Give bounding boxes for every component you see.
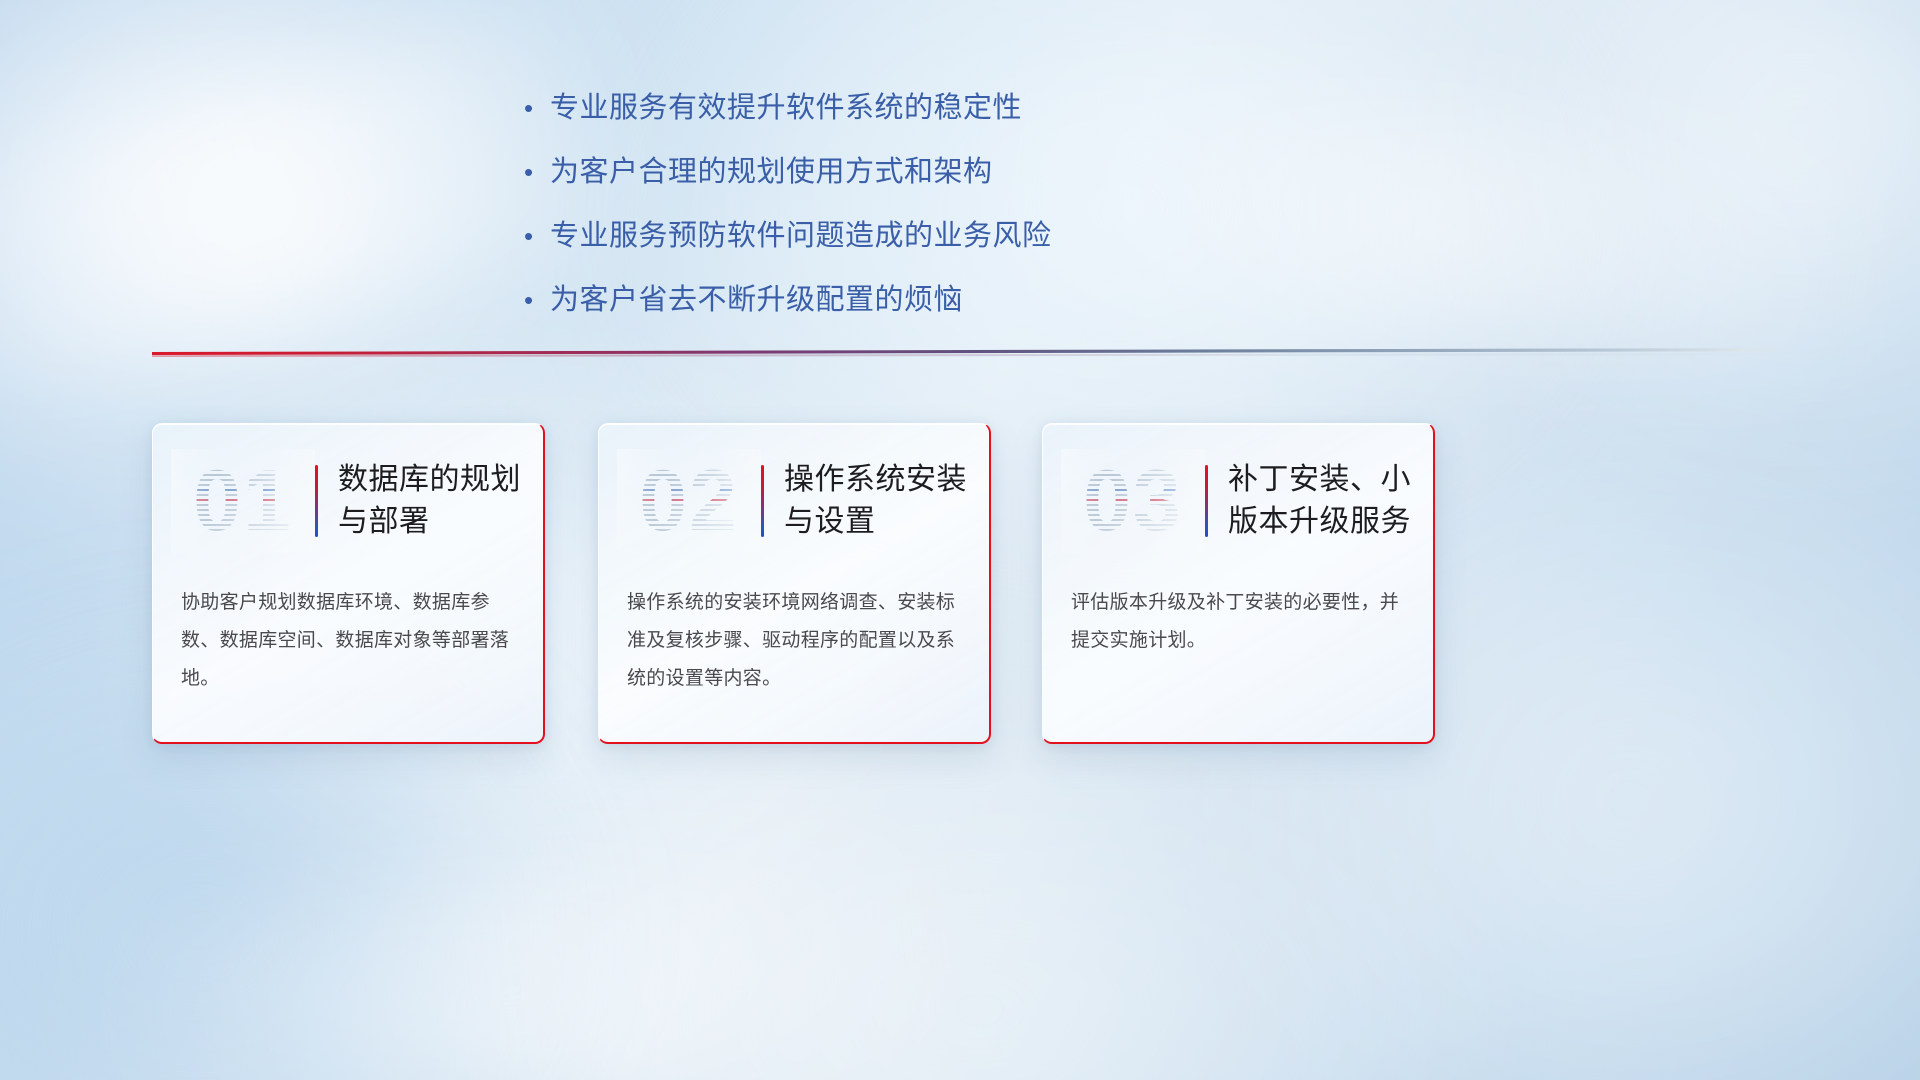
card-title: 补丁安装、小版本升级服务 xyxy=(1228,459,1418,543)
card-number-watermark: 01 01 01 xyxy=(177,449,309,553)
card-number-blue-scanlines: 02 xyxy=(623,449,755,553)
card-number-blue-scanlines: 01 xyxy=(177,449,309,553)
card-header: 02 02 02 操作系统安装与设置 xyxy=(599,442,989,560)
card-accent-bar xyxy=(315,465,318,537)
card-title: 操作系统安装与设置 xyxy=(784,459,974,543)
card-description: 协助客户规划数据库环境、数据库参数、数据库空间、数据库对象等部署落地。 xyxy=(181,584,515,698)
card-header: 03 03 03 补丁安装、小版本升级服务 xyxy=(1043,442,1433,560)
card-accent-bar xyxy=(761,465,764,537)
service-card-01[interactable]: 01 01 01 数据库的规划与部署 协助客户规划数据库环境、数据库参数、数据库… xyxy=(152,423,545,744)
card-header: 01 01 01 数据库的规划与部署 xyxy=(153,442,543,560)
card-accent-bar xyxy=(1205,465,1208,537)
card-number-watermark: 03 03 03 xyxy=(1067,449,1199,553)
card-title: 数据库的规划与部署 xyxy=(338,459,528,543)
service-card-03[interactable]: 03 03 03 补丁安装、小版本升级服务 评估版本升级及补丁安装的必要性，并提… xyxy=(1042,423,1435,744)
service-card-02[interactable]: 02 02 02 操作系统安装与设置 操作系统的安装环境网络调查、安装标准及复核… xyxy=(598,423,991,744)
card-description: 操作系统的安装环境网络调查、安装标准及复核步骤、驱动程序的配置以及系统的设置等内… xyxy=(627,584,961,698)
card-description: 评估版本升级及补丁安装的必要性，并提交实施计划。 xyxy=(1071,584,1405,660)
service-card-group: 01 01 01 数据库的规划与部署 协助客户规划数据库环境、数据库参数、数据库… xyxy=(0,0,1920,1080)
card-number-blue-scanlines: 03 xyxy=(1067,449,1199,553)
card-number-watermark: 02 02 02 xyxy=(623,449,755,553)
